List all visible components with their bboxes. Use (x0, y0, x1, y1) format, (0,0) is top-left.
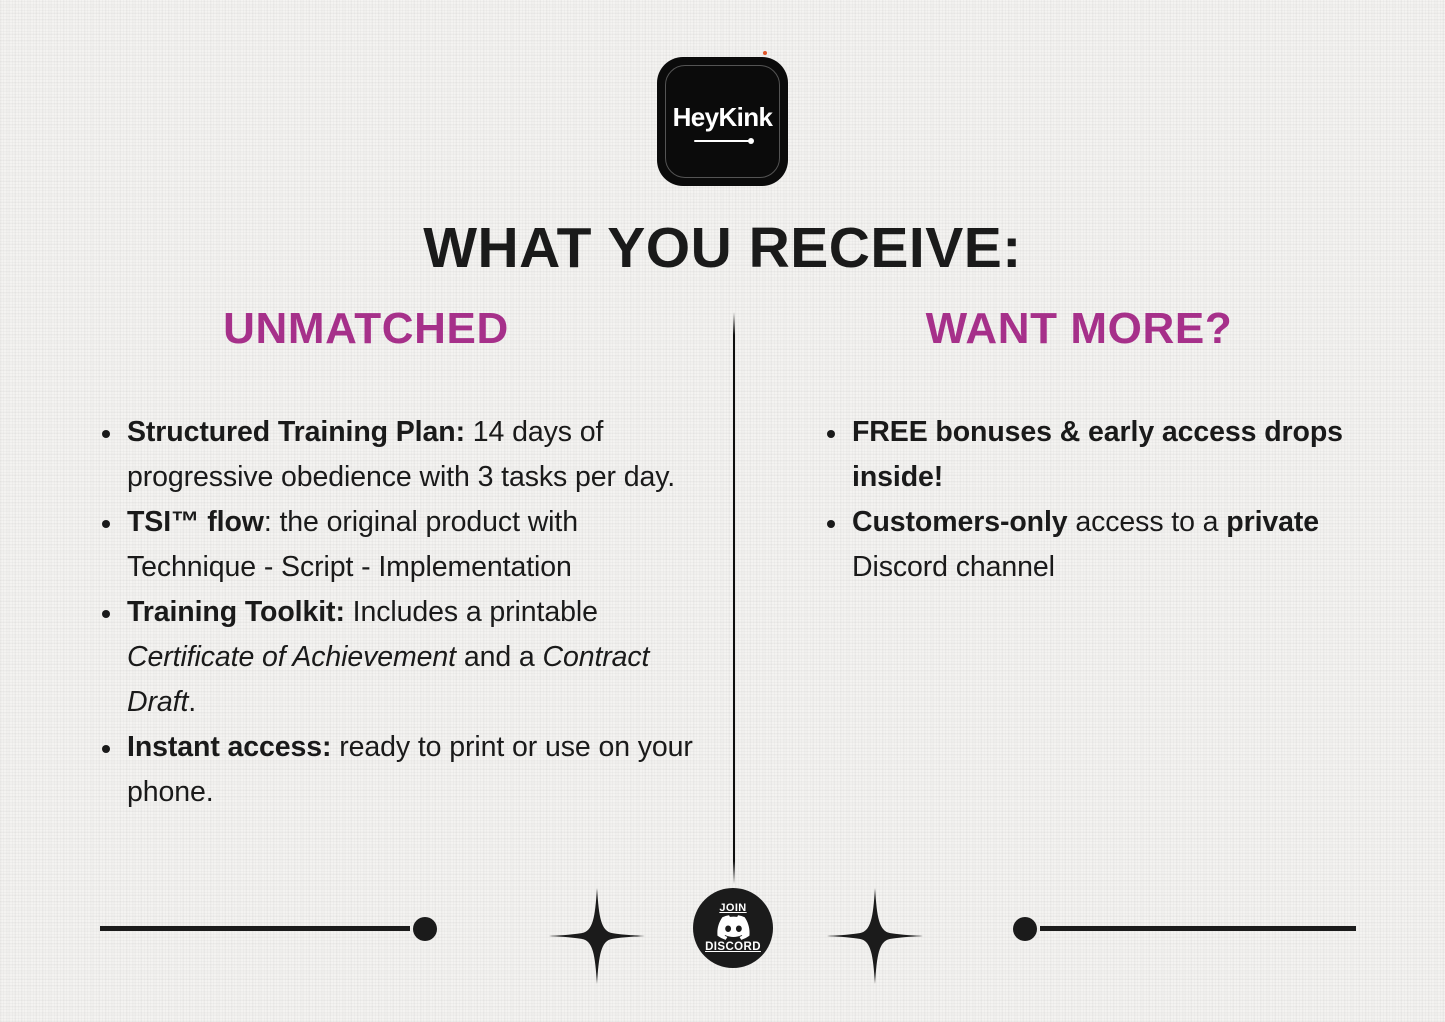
right-column: WANT MORE? FREE bonuses & early access d… (770, 305, 1410, 590)
bullet-text: Includes a printable (345, 596, 598, 628)
left-benefits-list: Structured Training Plan: 14 days of pro… (85, 410, 710, 815)
bullet-text: access to a (1068, 506, 1227, 538)
bullet-lead: Customers-only (852, 506, 1068, 538)
heykink-logo: HeyKink (657, 57, 788, 186)
list-item: Structured Training Plan: 14 days of pro… (85, 410, 710, 500)
list-item: Customers-only access to a private Disco… (810, 500, 1410, 590)
sparkle-star-icon-right (827, 888, 923, 984)
logo-wordmark: HeyKink (673, 104, 773, 130)
bullet-text: . (188, 686, 196, 718)
list-item: FREE bonuses & early access drops inside… (810, 410, 1410, 500)
logo-accent-dot-icon (763, 51, 767, 55)
join-discord-badge[interactable]: JOIN DISCORD (693, 888, 773, 968)
line-with-dot-icon-left (100, 926, 410, 931)
bullet-lead: FREE bonuses & early access drops inside… (852, 416, 1343, 493)
line-with-dot-icon-right (1040, 926, 1356, 931)
bullet-emphasis-private: private (1226, 506, 1319, 538)
bullet-text: Discord channel (852, 551, 1055, 583)
discord-label: DISCORD (705, 941, 761, 954)
discord-icon (717, 915, 750, 940)
bullet-lead: Training Toolkit: (127, 596, 345, 628)
left-column: UNMATCHED Structured Training Plan: 14 d… (40, 305, 710, 815)
bullet-lead: Instant access: (127, 731, 331, 763)
right-benefits-list: FREE bonuses & early access drops inside… (810, 410, 1410, 590)
bullet-text: and a (456, 641, 542, 673)
list-item: Training Toolkit: Includes a printable C… (85, 590, 710, 725)
list-item: Instant access: ready to print or use on… (85, 725, 710, 815)
right-column-heading: WANT MORE? (770, 305, 1410, 353)
left-column-heading: UNMATCHED (40, 305, 710, 353)
logo-container: HeyKink (0, 57, 1445, 186)
bullet-lead: Structured Training Plan: (127, 416, 465, 448)
bullet-italic-certificate: Certificate of Achievement (127, 641, 456, 673)
column-divider (733, 312, 735, 884)
page-title: WHAT YOU RECEIVE: (0, 215, 1445, 281)
discord-join-label: JOIN (719, 902, 746, 914)
bullet-lead: TSI™ flow (127, 506, 264, 538)
list-item: TSI™ flow: the original product with Tec… (85, 500, 710, 590)
line-end-dot-icon-right (1013, 917, 1037, 941)
sparkle-star-icon-left (549, 888, 645, 984)
logo-underline-icon (694, 140, 752, 142)
line-end-dot-icon-left (413, 917, 437, 941)
